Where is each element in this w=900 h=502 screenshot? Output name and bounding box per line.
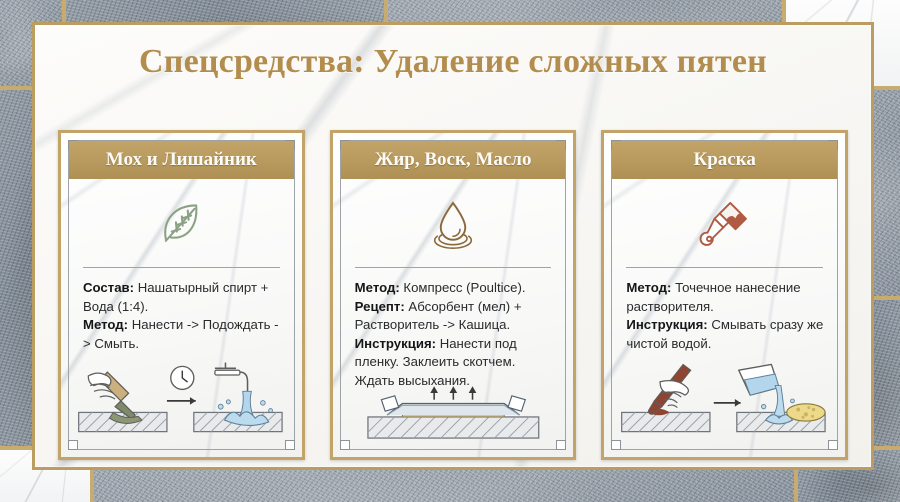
page-title: Спецсредства: Удаление сложных пятен — [35, 43, 871, 81]
body-label: Метод: — [626, 280, 671, 295]
body-line: Состав: Нашатырный спирт + Вода (1:4). — [83, 279, 284, 316]
droplet-ripple-icon — [333, 187, 574, 261]
body-label: Метод: — [83, 317, 128, 332]
card-header-band: Краска — [612, 141, 837, 179]
card-title: Жир, Воск, Масло — [375, 149, 532, 171]
divider — [626, 267, 823, 268]
content-panel: Спецсредства: Удаление сложных пятен Мох… — [32, 22, 874, 470]
leaf-icon — [61, 187, 302, 261]
body-line: Рецепт: Абсорбент (мел) + Растворитель -… — [355, 298, 556, 335]
body-line: Инструкция: Смывать сразу же чистой водо… — [626, 316, 827, 353]
illustration-poultice-film — [343, 385, 564, 447]
illustration-brush-wait-rinse — [71, 355, 292, 443]
slide-root: Спецсредства: Удаление сложных пятен Мох… — [0, 0, 900, 502]
body-label: Рецепт: — [355, 299, 405, 314]
card-paint[interactable]: Краска Метод: Точечное нанесение раствор… — [601, 130, 848, 460]
card-title: Мох и Лишайник — [106, 149, 257, 171]
divider — [83, 267, 280, 268]
body-label: Метод: — [355, 280, 400, 295]
body-value: Компресс (Poultice). — [400, 280, 526, 295]
body-line: Метод: Нанести -> Подождать -> Смыть. — [83, 316, 284, 353]
body-label: Состав: — [83, 280, 134, 295]
card-body: Метод: Компресс (Poultice). Рецепт: Абсо… — [355, 279, 556, 390]
body-line: Метод: Компресс (Poultice). — [355, 279, 556, 298]
card-header-band: Жир, Воск, Масло — [341, 141, 566, 179]
body-label: Инструкция: — [626, 317, 707, 332]
body-label: Инструкция: — [355, 336, 436, 351]
card-grease-wax-oil[interactable]: Жир, Воск, Масло Метод: Компресс (Poulti… — [330, 130, 577, 460]
body-line: Метод: Точечное нанесение растворителя. — [626, 279, 827, 316]
body-line: Инструкция: Нанести под пленку. Заклеить… — [355, 335, 556, 391]
card-header-band: Мох и Лишайник — [69, 141, 294, 179]
card-title: Краска — [693, 149, 755, 171]
illustration-solvent-and-rinse — [614, 355, 835, 443]
card-moss-lichen[interactable]: Мох и Лишайник Состав: Нашатырный спирт … — [58, 130, 305, 460]
card-body: Метод: Точечное нанесение растворителя. … — [626, 279, 827, 353]
card-grid: Мох и Лишайник Состав: Нашатырный спирт … — [58, 130, 848, 460]
paint-brush-icon — [604, 187, 845, 261]
divider — [355, 267, 552, 268]
card-body: Состав: Нашатырный спирт + Вода (1:4). М… — [83, 279, 284, 353]
